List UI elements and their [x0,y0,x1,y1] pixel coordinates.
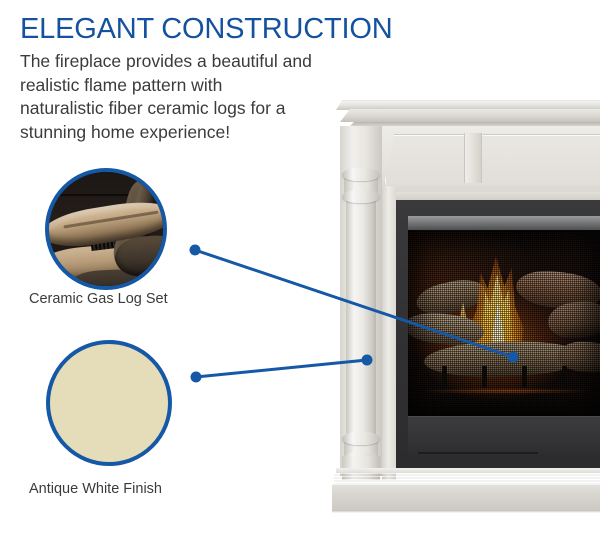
infographic-page: ELEGANT CONSTRUCTION The fireplace provi… [0,0,600,540]
callout-connectors [0,0,600,540]
log-set-connector [195,250,513,357]
finish-connector [196,360,367,377]
finish-connector-start-dot [191,372,202,383]
log-set-connector-end-dot [508,352,519,363]
finish-connector-end-dot [362,355,373,366]
log-set-connector-start-dot [190,245,201,256]
